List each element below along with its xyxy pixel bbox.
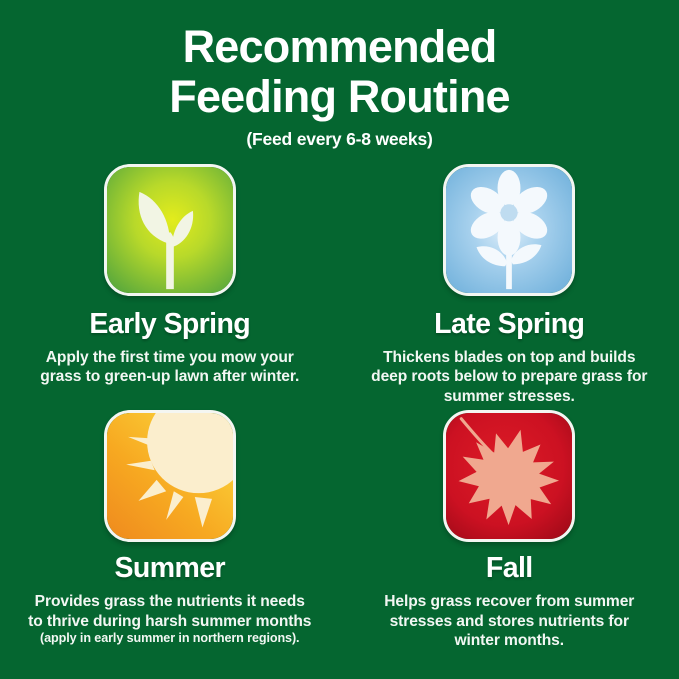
season-name-early-spring: Early Spring [89, 310, 250, 340]
season-desc-early-spring: Apply the first time you mow your grass … [27, 348, 312, 387]
feeding-routine-infographic: Recommended Feeding Routine (Feed every … [0, 0, 679, 679]
maple-leaf-icon [446, 413, 572, 539]
flower-icon [446, 167, 572, 293]
sprout-icon [107, 167, 233, 293]
season-name-summer: Summer [115, 554, 225, 584]
title-line-1: Recommended [0, 22, 679, 72]
season-desc-late-spring: Thickens blades on top and builds deep r… [367, 348, 652, 407]
early-spring-tile [104, 164, 236, 296]
page-title: Recommended Feeding Routine [0, 22, 679, 122]
season-desc-fall: Helps grass recover from summer stresses… [367, 592, 652, 651]
season-desc-summer: Provides grass the nutrients it needs to… [27, 592, 312, 631]
poster-header: Recommended Feeding Routine (Feed every … [0, 0, 679, 150]
summer-tile [104, 410, 236, 542]
season-card-early-spring: Early Spring Apply the first time you mo… [0, 164, 340, 406]
season-card-late-spring: Late Spring Thickens blades on top and b… [340, 164, 679, 406]
late-spring-tile [443, 164, 575, 296]
season-card-fall: Fall Helps grass recover from summer str… [340, 410, 679, 650]
page-subtitle: (Feed every 6-8 weeks) [0, 129, 679, 150]
season-note-summer: (apply in early summer in northern regio… [40, 631, 299, 646]
season-card-summer: Summer Provides grass the nutrients it n… [0, 410, 340, 650]
fall-tile [443, 410, 575, 542]
title-line-2: Feeding Routine [0, 72, 679, 122]
season-name-late-spring: Late Spring [434, 310, 584, 340]
seasons-grid: Early Spring Apply the first time you mo… [0, 164, 679, 651]
season-name-fall: Fall [486, 554, 533, 584]
sun-icon [107, 413, 233, 539]
